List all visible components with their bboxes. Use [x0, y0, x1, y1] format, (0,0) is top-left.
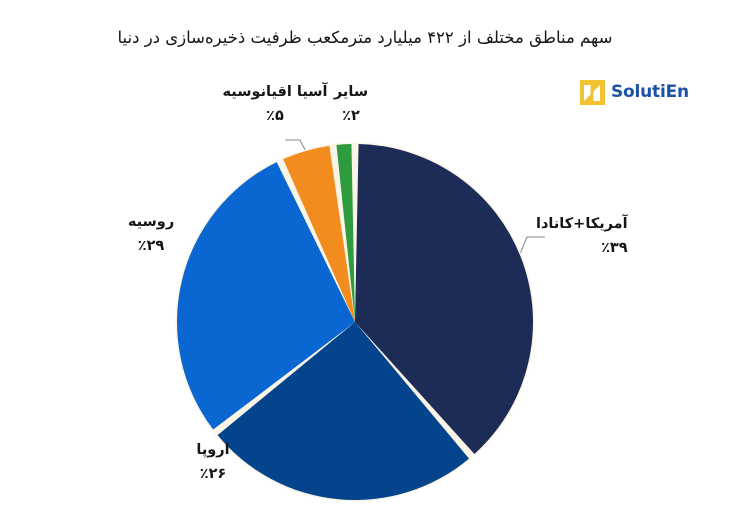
callout-americas-category: آمریکا+کانادا	[536, 214, 628, 235]
callout-other-percent: ٪۲	[318, 106, 384, 127]
callout-americas: آمریکا+کانادا ٪۳۹	[536, 214, 628, 259]
callout-asia: آسیا اقیانوسیه ٪۵	[216, 82, 334, 127]
callout-other-category: سایر	[318, 82, 384, 103]
callout-other: سایر ٪۲	[318, 82, 384, 127]
callout-asia-percent: ٪۵	[216, 106, 334, 127]
pie-svg	[0, 0, 730, 527]
callout-russia-category: روسیه	[98, 212, 204, 233]
pie-chart-figure: سهم مناطق مختلف از ۴۲۲ میلیارد مترمکعب ظ…	[0, 0, 730, 527]
callout-europe-percent: ٪۲۶	[160, 464, 266, 485]
callout-americas-percent: ٪۳۹	[536, 238, 628, 259]
callout-europe: اروپا ٪۲۶	[160, 440, 266, 485]
callout-russia: روسیه ٪۲۹	[98, 212, 204, 257]
callout-russia-percent: ٪۲۹	[98, 236, 204, 257]
callout-europe-category: اروپا	[160, 440, 266, 461]
callout-asia-category: آسیا اقیانوسیه	[216, 82, 334, 103]
